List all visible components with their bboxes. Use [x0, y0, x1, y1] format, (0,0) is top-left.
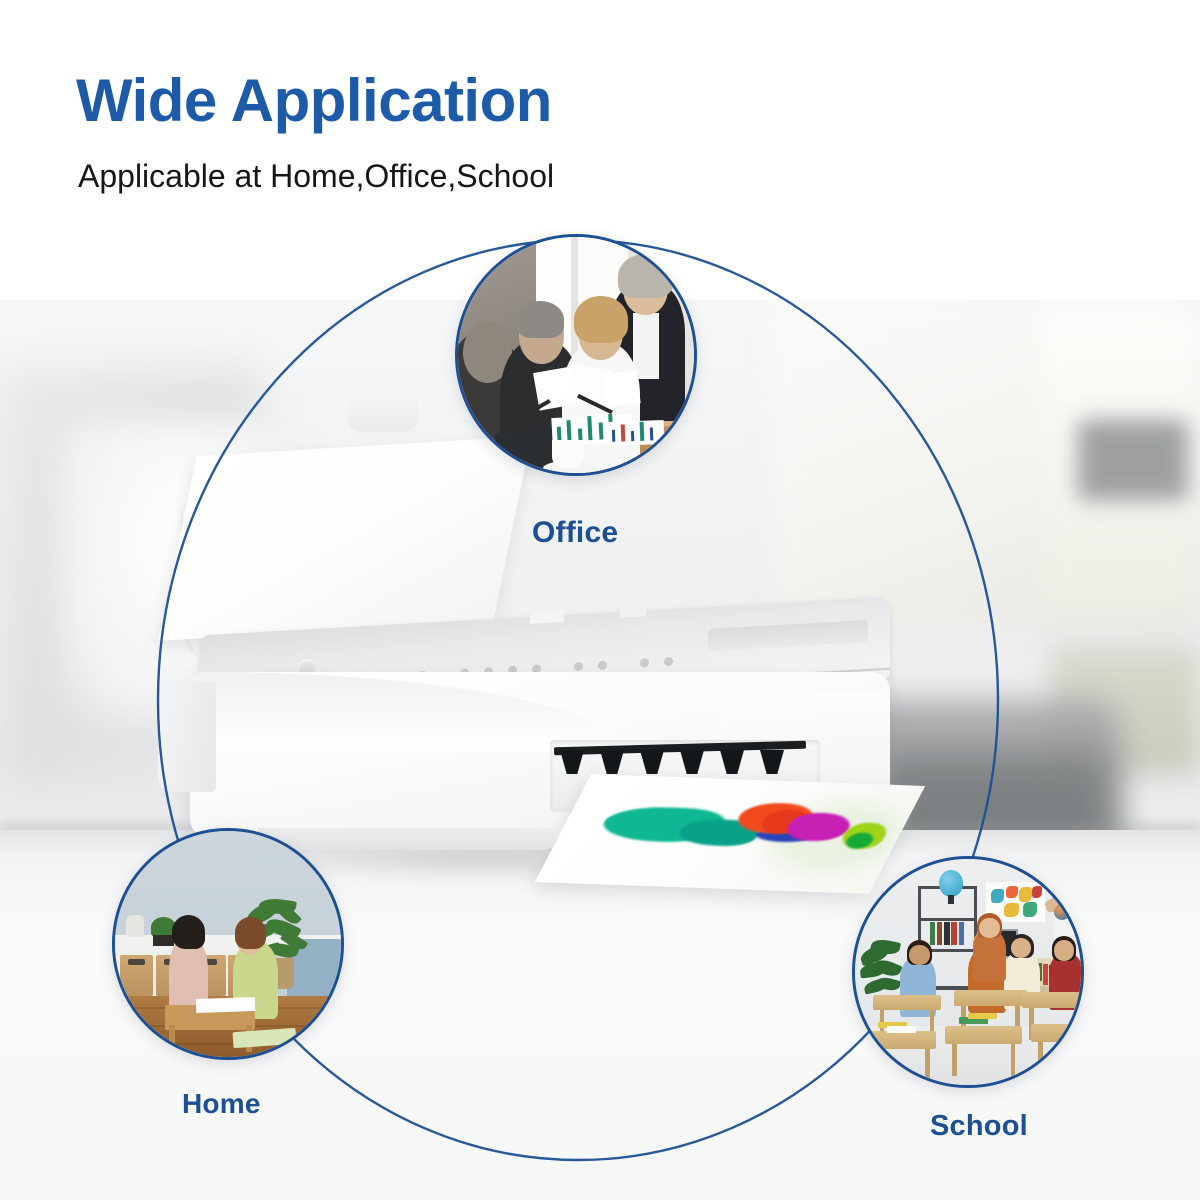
map-continent — [1004, 903, 1019, 917]
student-figure — [973, 931, 1007, 981]
bubble-office[interactable] — [455, 234, 697, 476]
desk-notebook — [968, 1013, 997, 1020]
desk-leg — [925, 1049, 930, 1081]
student-head — [979, 918, 999, 938]
bookshelf-book — [951, 922, 957, 945]
map-continent — [1019, 887, 1032, 902]
desk-leg — [1011, 1044, 1016, 1076]
page-title: Wide Application — [76, 66, 552, 135]
bookshelf-book — [959, 922, 965, 945]
map-continent — [1032, 886, 1043, 897]
chart-bar — [650, 427, 654, 440]
bubble-label-home: Home — [182, 1088, 261, 1120]
map-continent — [1006, 886, 1018, 898]
chart-bar — [567, 421, 572, 442]
desk-notebook — [887, 1026, 916, 1033]
bubble-home[interactable] — [112, 828, 344, 1060]
desk-leg — [1038, 1042, 1043, 1074]
bookshelf-book — [944, 922, 950, 945]
chart-bar — [640, 422, 644, 441]
school-desk — [860, 1031, 937, 1049]
desk-leg — [952, 1044, 957, 1076]
chart-bar — [588, 417, 593, 441]
student-head — [1054, 940, 1074, 960]
chart-bar — [621, 425, 625, 442]
bookshelf-book — [937, 922, 943, 945]
bookshelf-book — [1043, 964, 1049, 985]
bubble-school[interactable] — [852, 856, 1084, 1088]
school-desk — [1022, 992, 1084, 1008]
school-desk — [945, 1026, 1022, 1044]
map-continent — [991, 889, 1004, 903]
chart-bar — [611, 430, 615, 442]
bubble-label-school: School — [930, 1110, 1028, 1143]
page-subtitle: Applicable at Home,Office,School — [78, 158, 554, 195]
school-scene — [855, 859, 1081, 1085]
school-desk — [873, 995, 941, 1011]
map-continent — [1023, 902, 1037, 917]
desk-leg — [866, 1049, 871, 1081]
marketing-banner: Office Home — [0, 0, 1200, 1200]
bubble-label-office: Office — [532, 516, 618, 550]
chart-bar — [599, 423, 604, 440]
home-scene — [115, 831, 341, 1057]
school-desk — [954, 990, 1026, 1006]
bookshelf-book — [930, 922, 936, 945]
office-scene — [458, 237, 694, 473]
school-desk — [1031, 1024, 1084, 1042]
student-head — [909, 945, 929, 965]
chart-bar — [630, 432, 634, 442]
